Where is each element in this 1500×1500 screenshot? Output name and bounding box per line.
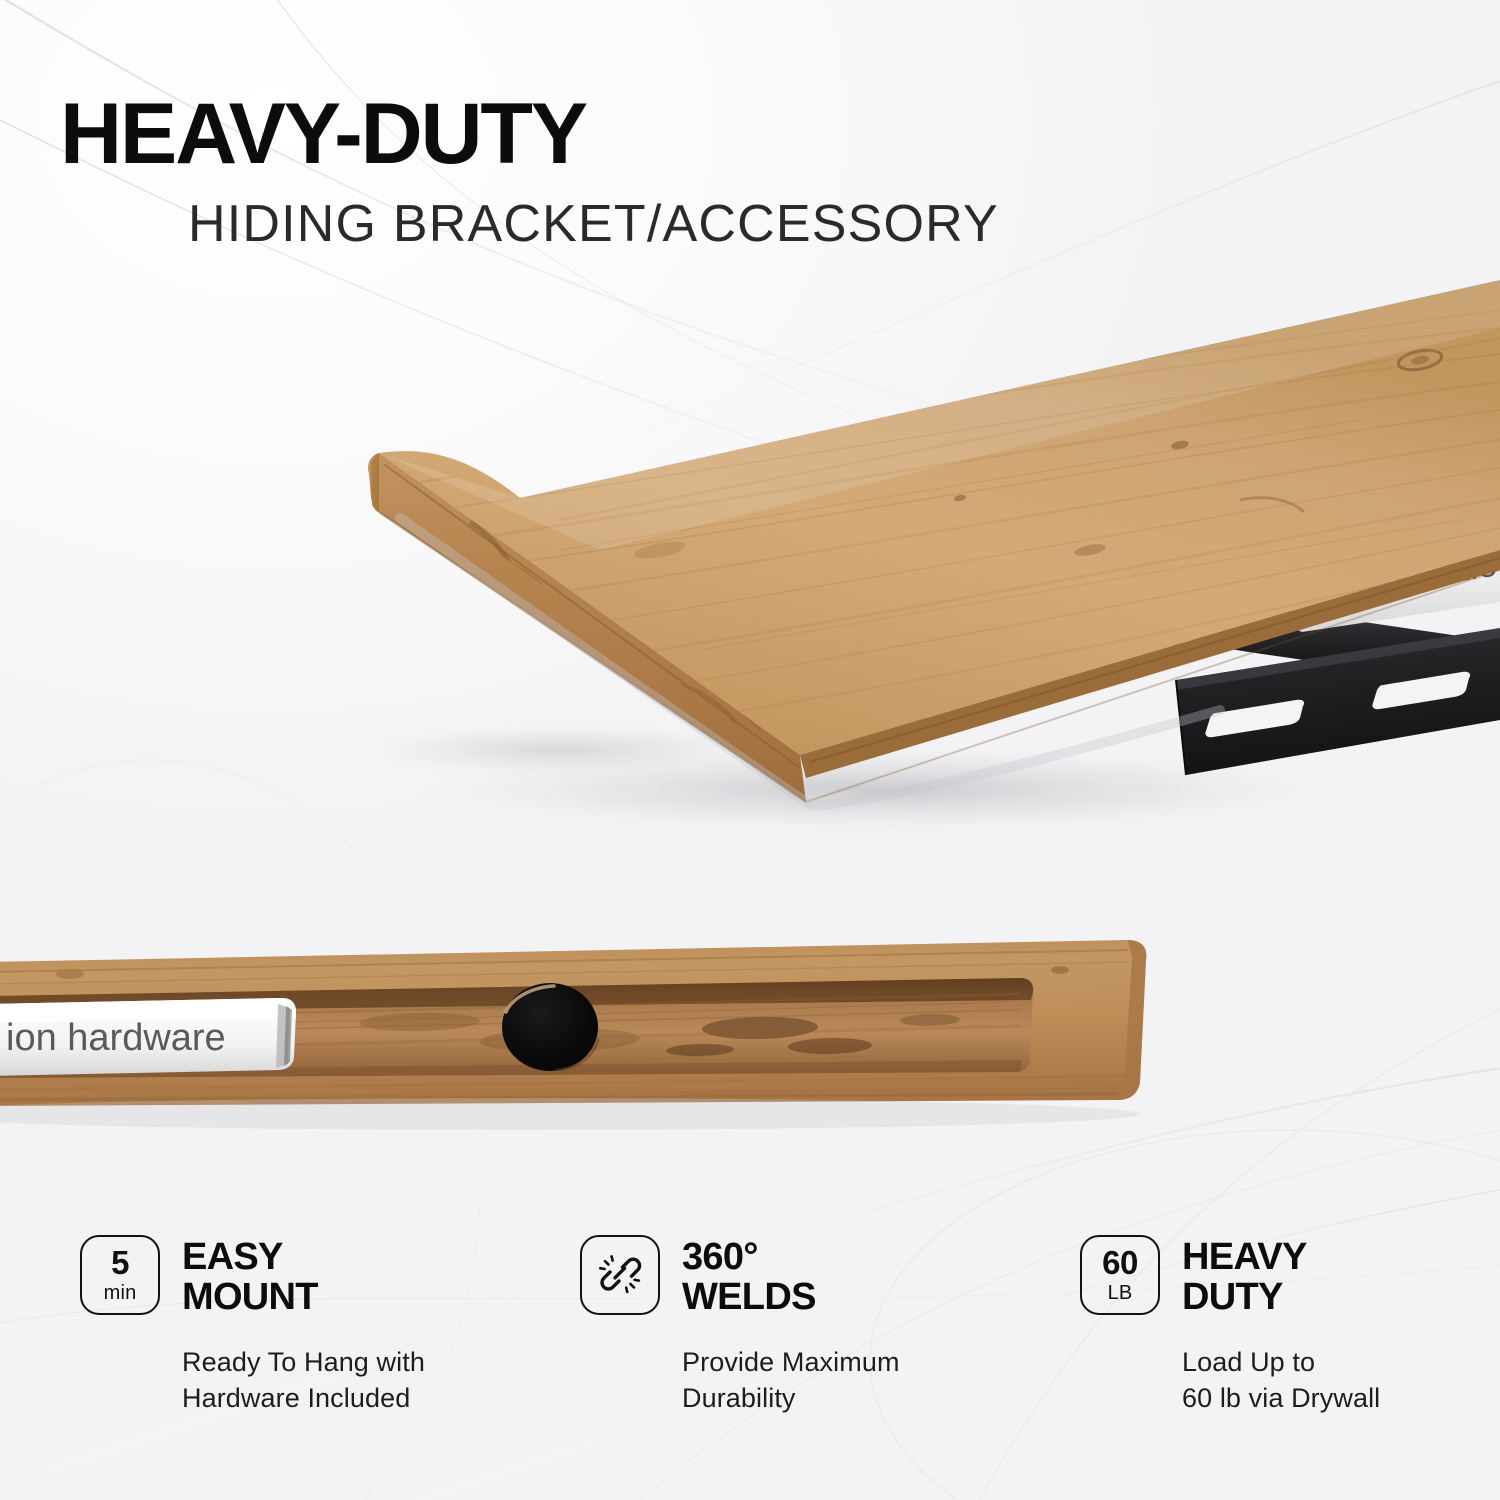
feature-description: Provide Maximum Durability [682,1344,1000,1417]
feature-title: HEAVY DUTY [1182,1235,1307,1318]
product-photo-shelf-with-bracket: Installatio [0,250,1500,870]
feature-title-line1: 360° [682,1237,816,1277]
feature-desc-line1: Provide Maximum [682,1344,1000,1380]
badge-unit: LB [1108,1282,1133,1305]
feature-highlights-row: 5 min EASY MOUNT Ready To Hang with Hard… [0,1235,1500,1465]
feature-desc-line2: Hardware Included [182,1380,500,1416]
feature-header: 5 min EASY MOUNT [80,1235,500,1318]
feature-heavy-duty: 60 LB HEAVY DUTY Load Up to 60 lb via Dr… [1000,1235,1500,1465]
product-photo-shelf-channel: ion hardware [0,900,1200,1170]
mounting-hole [502,983,598,1071]
feature-description: Ready To Hang with Hardware Included [182,1344,500,1417]
feature-title-line1: EASY [182,1237,318,1277]
page-title: HEAVY-DUTY [60,92,999,176]
minutes-badge-icon: 5 min [80,1235,160,1315]
badge-value: 60 [1102,1246,1138,1279]
feature-easy-mount: 5 min EASY MOUNT Ready To Hang with Hard… [0,1235,500,1465]
installation-hardware-package-inserted: ion hardware [0,998,296,1076]
badge-unit: min [104,1282,137,1305]
infographic-canvas: HEAVY-DUTY HIDING BRACKET/ACCESSORY [0,0,1500,1500]
feature-title: 360° WELDS [682,1235,816,1318]
feature-360-welds: 360° WELDS Provide Maximum Durability [500,1235,1000,1465]
chain-link-icon-glyph [597,1252,643,1298]
feature-title-line2: DUTY [1182,1277,1307,1317]
chain-link-weld-icon [580,1235,660,1315]
feature-title-line2: WELDS [682,1277,816,1317]
feature-title-line1: HEAVY [1182,1237,1307,1277]
feature-title-line2: MOUNT [182,1277,318,1317]
package-label-text-bottom: ion hardware [6,1017,226,1059]
feature-title: EASY MOUNT [182,1235,318,1318]
weight-capacity-badge-icon: 60 LB [1080,1235,1160,1315]
feature-header: 360° WELDS [580,1235,1000,1318]
feature-desc-line2: Durability [682,1380,1000,1416]
feature-desc-line2: 60 lb via Drywall [1182,1380,1500,1416]
feature-desc-line1: Ready To Hang with [182,1344,500,1380]
header-block: HEAVY-DUTY HIDING BRACKET/ACCESSORY [60,92,999,250]
page-subtitle: HIDING BRACKET/ACCESSORY [188,198,999,250]
feature-desc-line1: Load Up to [1182,1344,1500,1380]
badge-value: 5 [111,1246,129,1279]
feature-description: Load Up to 60 lb via Drywall [1182,1344,1500,1417]
feature-header: 60 LB HEAVY DUTY [1080,1235,1500,1318]
